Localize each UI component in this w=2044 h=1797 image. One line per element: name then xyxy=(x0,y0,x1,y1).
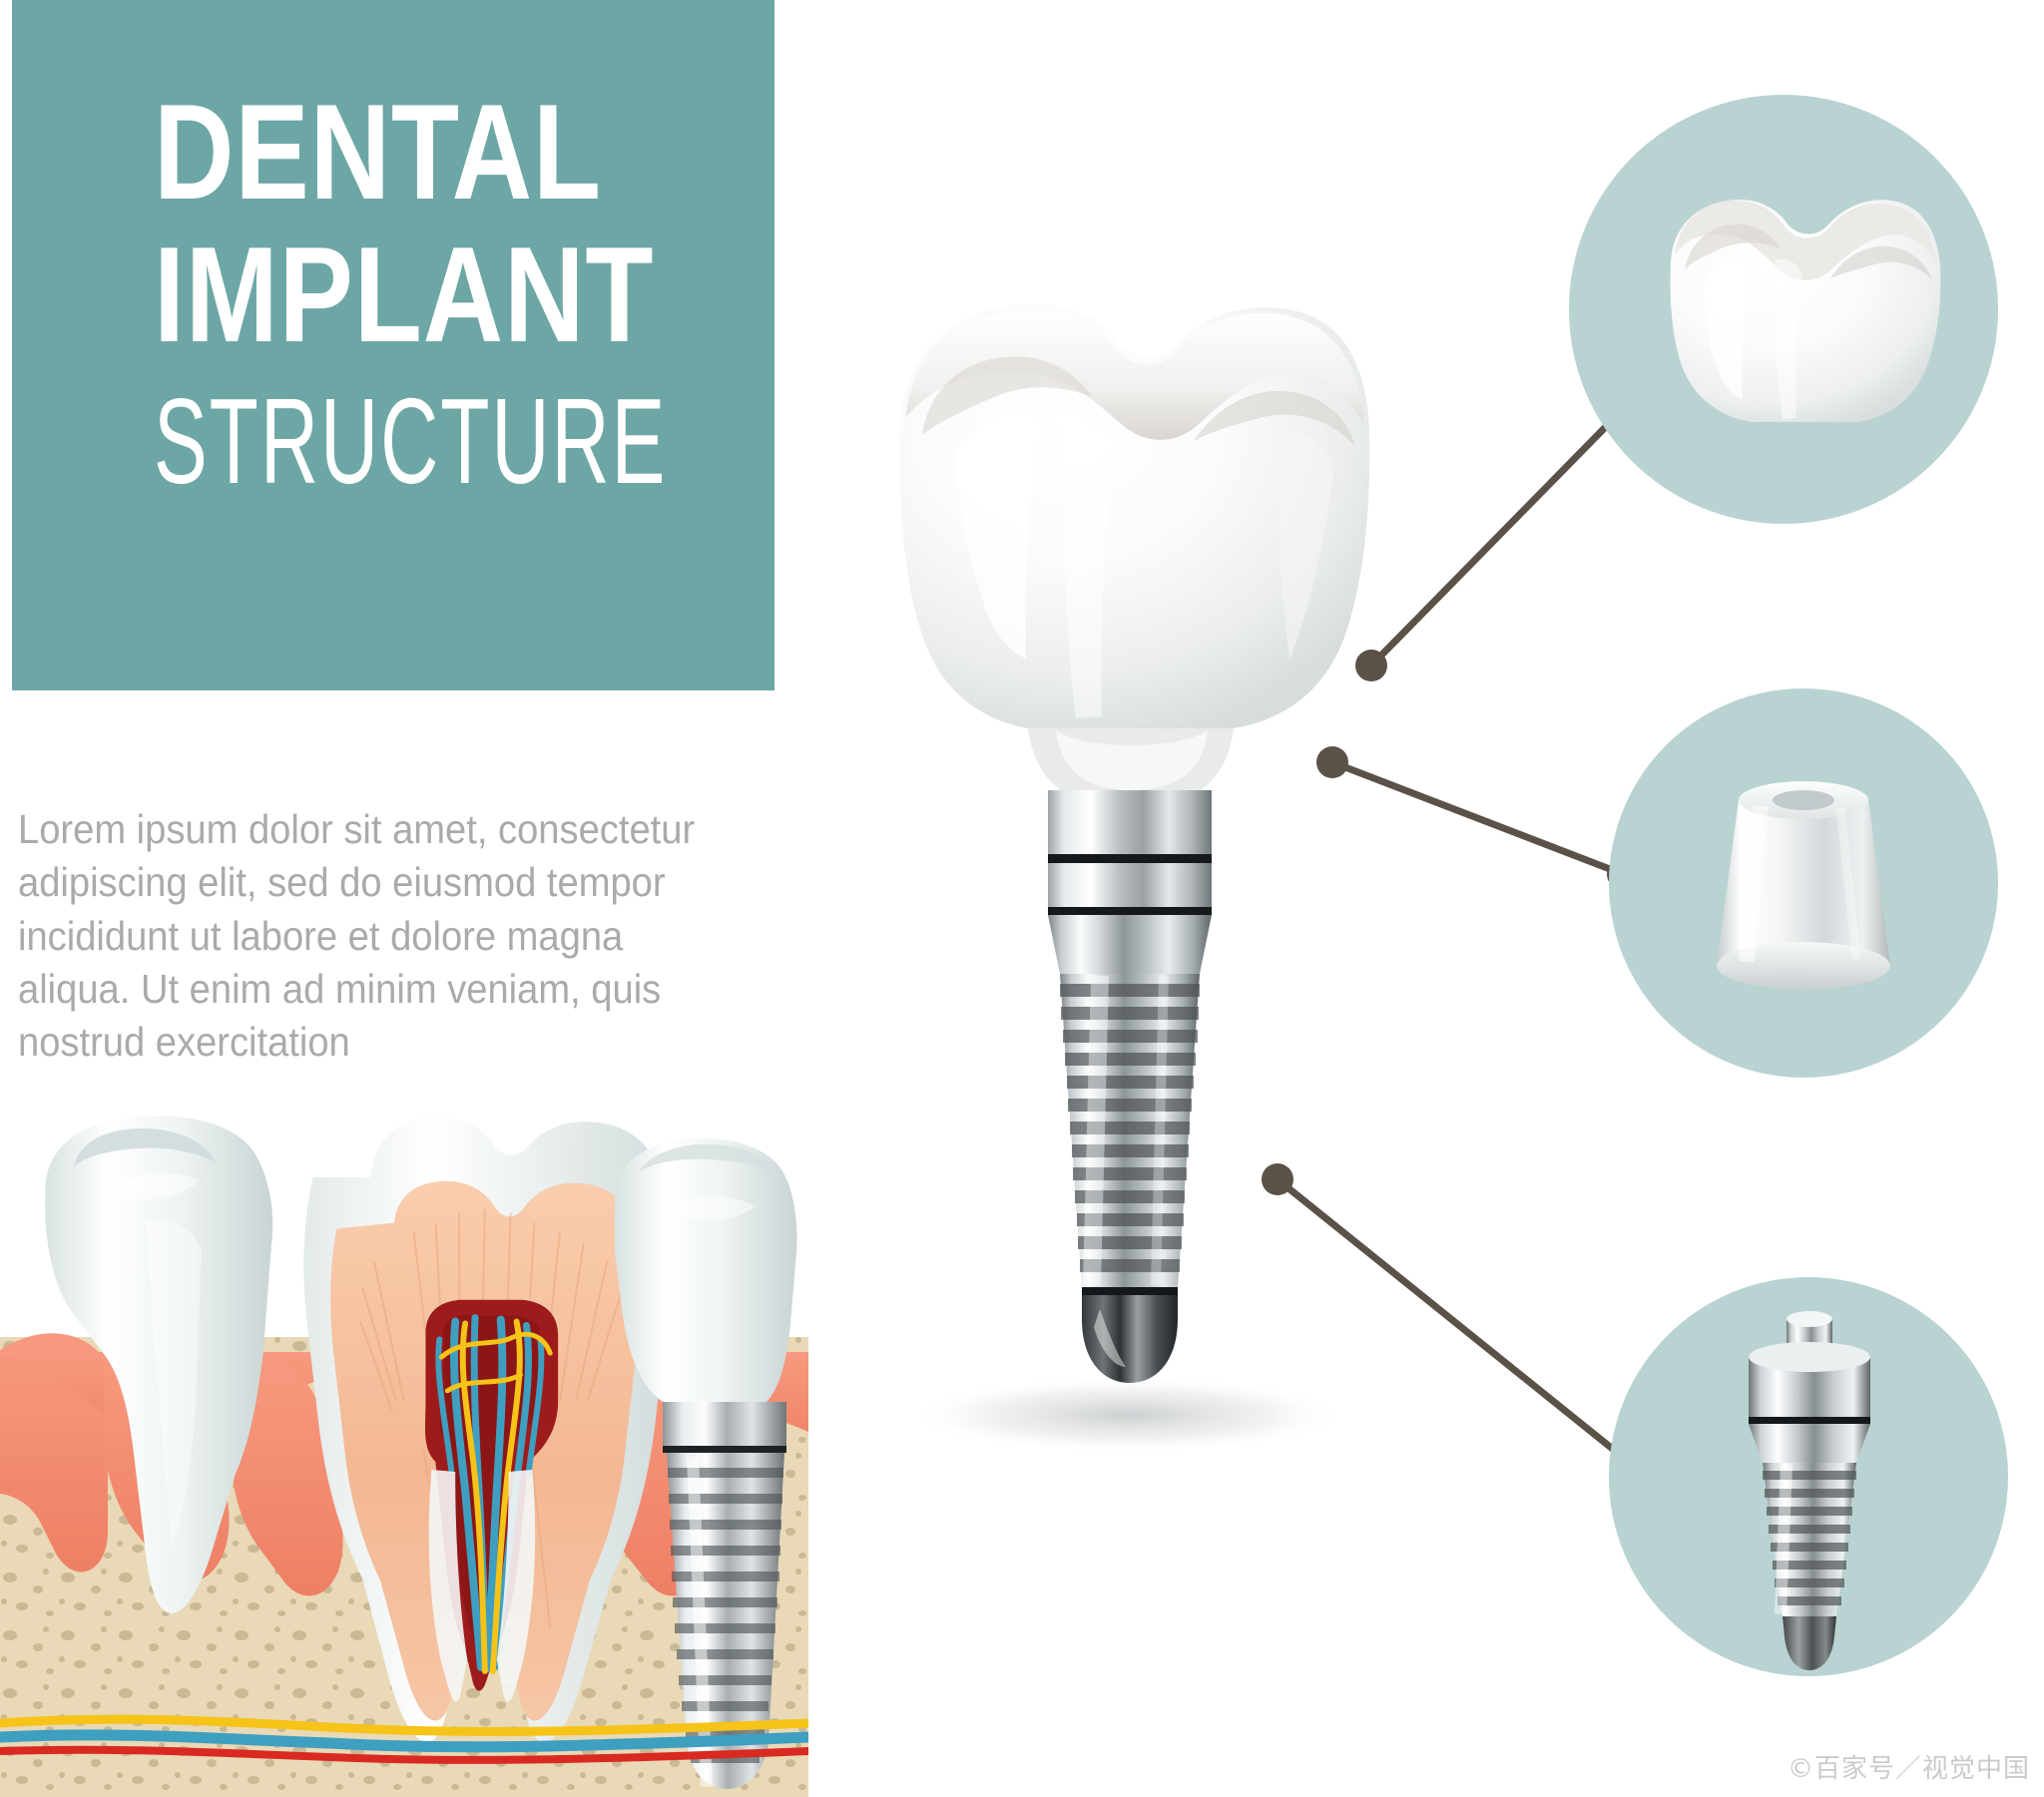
infographic-canvas: DENTAL IMPLANT STRUCTURE Lorem ipsum dol… xyxy=(0,0,2044,1797)
title-text-group: DENTAL IMPLANT STRUCTURE xyxy=(154,86,772,502)
title-block: DENTAL IMPLANT STRUCTURE xyxy=(12,0,774,690)
callout-circle-abutment[interactable] xyxy=(1609,688,1998,1078)
implant-screw-icon xyxy=(1749,1311,1870,1670)
abutment-icon xyxy=(1717,781,1890,990)
implant-shadow xyxy=(908,1377,1347,1453)
implant-shoulder xyxy=(1048,915,1212,974)
abutment-screw-hole xyxy=(1773,790,1834,810)
page-title-line-2: IMPLANT xyxy=(154,228,661,361)
callout-circle-crown[interactable] xyxy=(1569,95,1998,524)
intro-paragraph: Lorem ipsum dolor sit amet, consectetur … xyxy=(18,803,724,1069)
tooth-crown-icon xyxy=(1671,200,1941,422)
page-title-line-3: STRUCTURE xyxy=(154,380,562,502)
page-title-line-1: DENTAL xyxy=(154,86,661,219)
dental-implant-exploded-view xyxy=(878,299,1377,1477)
implant-crown xyxy=(900,304,1370,796)
implant-tip xyxy=(1082,1287,1178,1383)
implant-screw-shaft xyxy=(1060,974,1200,1287)
implant-collar xyxy=(1048,790,1212,915)
callout-circle-implant[interactable] xyxy=(1609,1277,2008,1676)
watermark-text: ©百家号／视觉中国 xyxy=(1788,1748,2030,1785)
tooth-anatomy-cross-section xyxy=(0,1103,808,1797)
